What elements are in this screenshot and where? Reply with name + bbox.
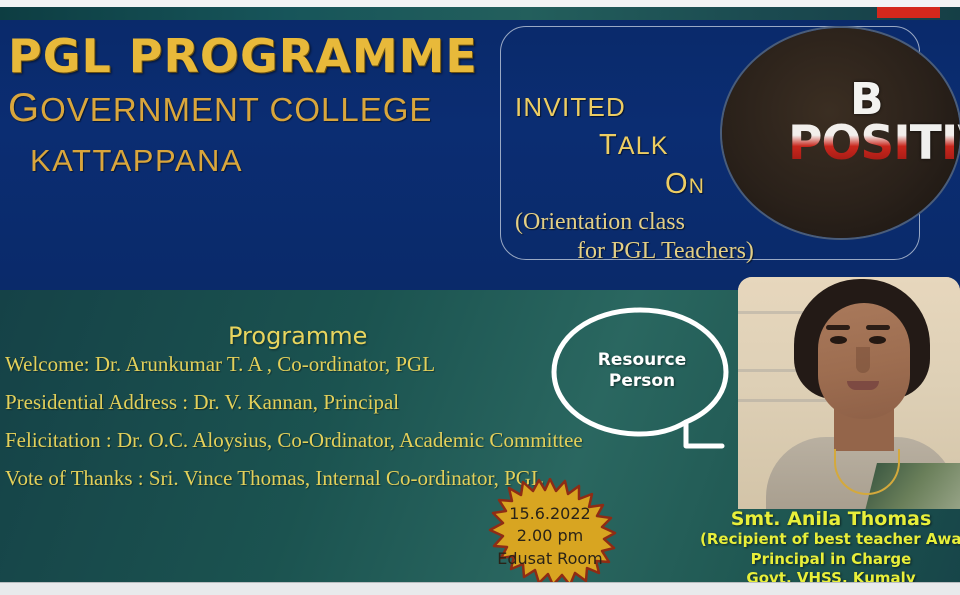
event-date: 15.6.2022 (455, 503, 645, 525)
logo-i2: I (941, 116, 958, 171)
event-venue: Edusat Room (455, 548, 645, 570)
event-time: 2.00 pm (455, 525, 645, 547)
bubble-line-1: Resource (582, 350, 702, 371)
top-white-strip (0, 0, 960, 7)
list-item: Presidential Address : Dr. V. Kannan, Pr… (5, 390, 615, 415)
top-teal-strip (0, 7, 960, 21)
photo-eyebrow (826, 325, 850, 330)
speaker-caption: Smt. Anila Thomas (Recipient of best tea… (700, 508, 960, 589)
college-name-rest: OVERNMENT COLLEGE (40, 91, 432, 128)
talk-line-talk-initial: T (599, 129, 618, 161)
poster-canvas: PGL PROGRAMME GOVERNMENT COLLEGE KATTAPP… (0, 0, 960, 595)
resource-person-bubble: Resource Person (540, 302, 740, 462)
list-item: Welcome: Dr. Arunkumar T. A , Co-ordinat… (5, 352, 615, 377)
top-red-marker (877, 7, 940, 18)
logo-i1: I (893, 116, 910, 171)
talk-line-on-rest: N (689, 175, 705, 198)
photo-eye (830, 336, 847, 344)
speaker-designation: Principal in Charge (700, 550, 960, 570)
photo-mouth (847, 381, 879, 390)
college-name: GOVERNMENT COLLEGE (8, 86, 488, 131)
photo-nose (856, 347, 870, 373)
speaker-photo (738, 277, 960, 509)
college-place: KATTAPPANA (30, 143, 488, 179)
title-block: PGL PROGRAMME GOVERNMENT COLLEGE KATTAPP… (8, 32, 488, 179)
bottom-strip (0, 582, 960, 595)
list-item: Felicitation : Dr. O.C. Aloysius, Co-Ord… (5, 428, 615, 453)
logo-word-positive: POSITIVE (788, 120, 960, 167)
page-title: PGL PROGRAMME (8, 32, 488, 80)
logo-t: T (910, 116, 941, 171)
poster-header: PGL PROGRAMME GOVERNMENT COLLEGE KATTAPP… (0, 20, 960, 290)
talk-line-on-initial: O (665, 168, 689, 200)
b-positive-logo: B POSITIVE (722, 28, 960, 238)
bubble-label: Resource Person (582, 350, 702, 393)
starburst-text: 15.6.2022 2.00 pm Edusat Room (455, 503, 645, 570)
bubble-line-2: Person (582, 371, 702, 392)
speaker-award: (Recipient of best teacher Award 20 (700, 530, 960, 550)
photo-eyebrow (866, 325, 890, 330)
programme-heading: Programme (228, 322, 367, 350)
logo-os: OS (821, 116, 893, 171)
college-name-initial: G (8, 86, 40, 130)
talk-line-forpgl: for PGL Teachers) (577, 238, 845, 265)
talk-line-talk-rest: ALK (618, 132, 669, 160)
speaker-name: Smt. Anila Thomas (700, 508, 960, 530)
event-details-starburst: 15.6.2022 2.00 pm Edusat Room (455, 478, 645, 595)
logo-p: P (788, 116, 821, 171)
photo-eye (869, 336, 886, 344)
